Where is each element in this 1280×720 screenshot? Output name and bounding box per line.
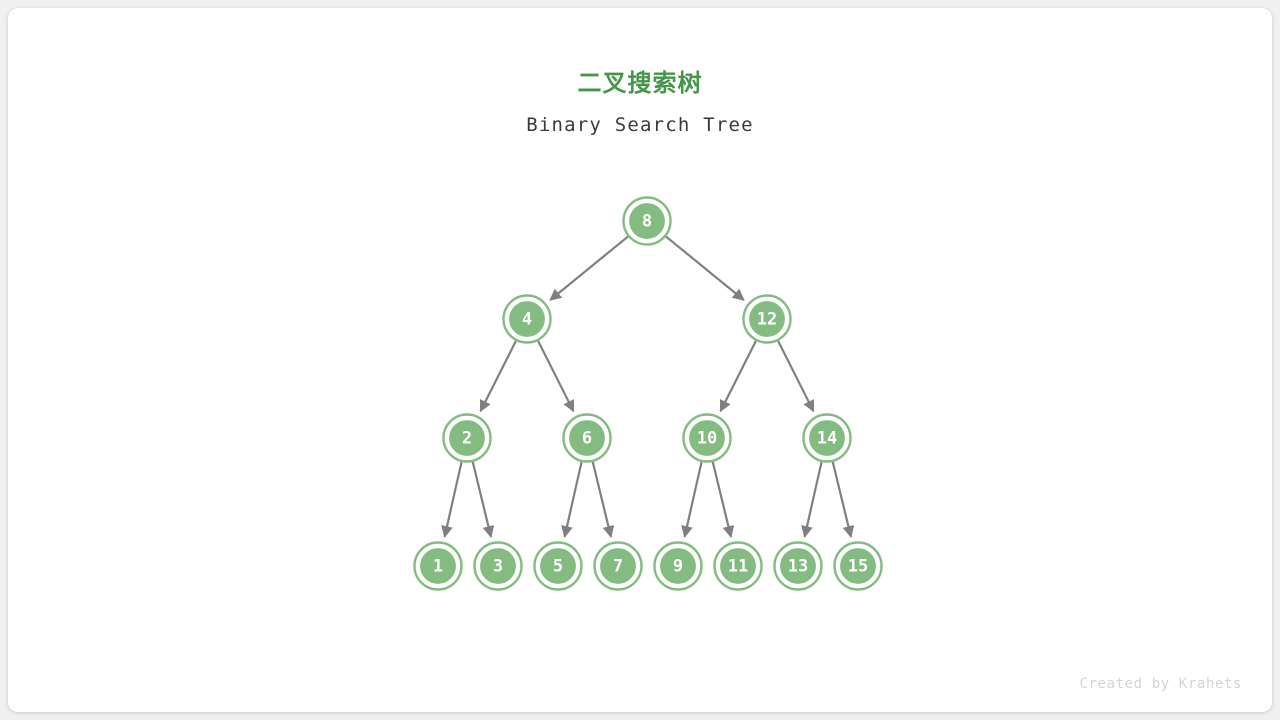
tree-node[interactable]: 5: [535, 543, 582, 590]
tree-node-label: 15: [848, 557, 868, 577]
tree-node[interactable]: 15: [835, 543, 882, 590]
tree-node-label: 13: [788, 557, 808, 577]
tree-node-label: 2: [462, 429, 472, 449]
tree-edge: [833, 461, 851, 537]
tree-node[interactable]: 13: [775, 543, 822, 590]
tree-edge: [805, 461, 822, 536]
tree-edge: [445, 461, 462, 536]
tree-edge: [713, 461, 731, 537]
tree-node-label: 9: [673, 557, 683, 577]
tree-node-label: 3: [493, 557, 503, 577]
tree-edge: [685, 461, 702, 536]
tree-node[interactable]: 11: [715, 543, 762, 590]
tree-node[interactable]: 3: [475, 543, 522, 590]
tree-node[interactable]: 8: [624, 198, 671, 245]
tree-node[interactable]: 14: [804, 415, 851, 462]
tree-node-label: 1: [433, 557, 443, 577]
tree-node[interactable]: 6: [564, 415, 611, 462]
tree-node[interactable]: 10: [684, 415, 731, 462]
binary-search-tree-diagram: 841226101413579111315: [8, 8, 1272, 712]
tree-edge: [565, 461, 582, 536]
tree-node-label: 7: [613, 557, 623, 577]
tree-edge: [593, 461, 611, 537]
tree-node-label: 5: [553, 557, 563, 577]
tree-edge: [721, 340, 757, 411]
tree-node-label: 8: [642, 212, 652, 232]
tree-node-label: 14: [817, 429, 837, 449]
tree-edge: [473, 461, 491, 537]
tree-node-label: 4: [522, 310, 532, 330]
tree-edge: [538, 340, 574, 411]
tree-edge: [481, 340, 517, 411]
tree-edge: [778, 340, 814, 411]
tree-node[interactable]: 4: [504, 296, 551, 343]
tree-nodes: 841226101413579111315: [415, 198, 882, 590]
tree-node-label: 6: [582, 429, 592, 449]
tree-node-label: 10: [697, 429, 717, 449]
tree-node[interactable]: 9: [655, 543, 702, 590]
tree-node-label: 11: [728, 557, 748, 577]
diagram-card: 二叉搜索树 Binary Search Tree 841226101413579…: [8, 8, 1272, 712]
watermark-credit: Created by Krahets: [1079, 676, 1242, 692]
tree-node-label: 12: [757, 310, 777, 330]
tree-node[interactable]: 7: [595, 543, 642, 590]
tree-edge: [666, 236, 744, 300]
tree-edge: [550, 236, 628, 300]
tree-node[interactable]: 12: [744, 296, 791, 343]
tree-node[interactable]: 1: [415, 543, 462, 590]
tree-edges: [445, 236, 851, 537]
tree-node[interactable]: 2: [444, 415, 491, 462]
